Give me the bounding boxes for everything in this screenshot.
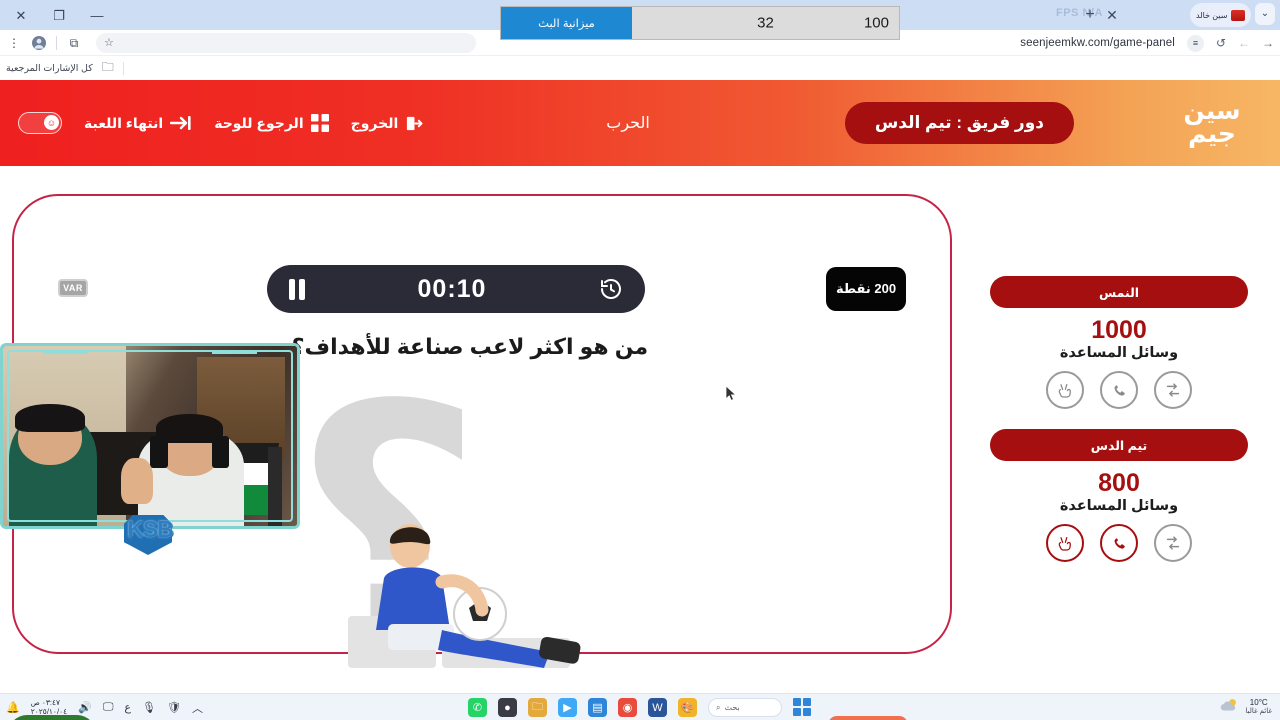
address-bar[interactable]: ☆ <box>96 33 476 53</box>
bookmarks-bar: 🗀 كل الإشارات المرجعية <box>0 56 1280 80</box>
timer-value: 00:10 <box>418 275 487 304</box>
header-actions: الخروج الرجوع للوحة انتهاء اللعبة ☺ <box>18 112 424 134</box>
folder-app-icon[interactable]: 🗀 <box>528 698 547 717</box>
toggle-knob-icon: ☺ <box>44 115 59 130</box>
bookmarks-folder-icon: 🗀 <box>100 60 116 76</box>
team-helps <box>990 524 1248 562</box>
end-game-arrow-icon <box>170 114 192 132</box>
webcam-headphone-right <box>212 436 230 468</box>
team-score: 1000 <box>990 316 1248 345</box>
broadcast-budget-max: 100 <box>864 15 889 32</box>
category-label: الحرب <box>606 113 650 133</box>
profile-avatar-icon <box>1231 10 1245 21</box>
url-options-icon[interactable]: ≡ <box>1187 35 1204 52</box>
teams-sidebar: النمس 1000 وسائل المساعدة <box>990 276 1248 582</box>
webcam-microphone <box>268 447 283 526</box>
webcam-person-left-hair <box>15 404 86 433</box>
boy-with-ball-illustration <box>292 518 622 678</box>
victory-hand-icon[interactable] <box>1046 371 1084 409</box>
toolbar-divider <box>56 36 57 50</box>
chrome-app-icon[interactable]: ◉ <box>618 698 637 717</box>
team-helps-label: وسائل المساعدة <box>990 498 1248 514</box>
current-turn-badge: دور فريق : تيم الدس <box>845 102 1074 144</box>
team-card: تيم الدس 800 وسائل المساعدة <box>990 429 1248 562</box>
forward-icon[interactable]: → <box>1262 36 1274 50</box>
pause-icon[interactable] <box>289 279 305 300</box>
chevron-down-icon[interactable]: ⌄ <box>1255 3 1275 25</box>
show-answer-button[interactable]: الإجابة <box>8 715 96 720</box>
var-badge[interactable]: VAR <box>58 279 88 297</box>
all-bookmarks-item[interactable]: 🗀 كل الإشارات المرجعية <box>6 56 124 80</box>
broadcast-budget-title: ميزانية البث <box>501 7 632 39</box>
mouse-cursor <box>726 386 737 402</box>
exit-button[interactable]: الخروج <box>351 114 425 133</box>
dark-mode-toggle[interactable]: ☺ <box>18 112 62 134</box>
two-answers-icon[interactable] <box>1154 371 1192 409</box>
team-helps <box>990 371 1248 409</box>
word-app-icon[interactable]: W <box>648 698 667 717</box>
profile-name: سين خالد <box>1196 11 1227 20</box>
team-card: النمس 1000 وسائل المساعدة <box>990 276 1248 409</box>
timer-bar: 00:10 <box>267 265 645 313</box>
restore-window-icon[interactable]: ❐ <box>48 4 70 26</box>
team-score: 800 <box>990 469 1248 498</box>
close-tab-icon[interactable]: ✕ <box>1102 5 1122 25</box>
team-helps-label: وسائل المساعدة <box>990 345 1248 361</box>
new-tab-button[interactable]: + <box>1080 5 1100 25</box>
store-app-icon[interactable]: ▤ <box>588 698 607 717</box>
bookmarks-divider <box>123 62 124 75</box>
seenjeem-logo[interactable]: سين جيم <box>1166 100 1258 146</box>
grid-board-icon <box>311 114 329 132</box>
team-name[interactable]: النمس <box>990 276 1248 308</box>
phone-call-icon[interactable] <box>1100 371 1138 409</box>
search-placeholder: بحث <box>724 703 739 712</box>
broadcast-budget-values: 32 100 <box>632 7 899 39</box>
bookmark-star-icon[interactable]: ☆ <box>104 36 114 49</box>
profile-chip[interactable]: سين خالد <box>1190 3 1251 27</box>
back-to-board-label: الرجوع للوحة <box>214 115 303 132</box>
split-screen-icon[interactable]: ⧉ <box>66 35 82 51</box>
all-bookmarks-label: كل الإشارات المرجعية <box>6 63 93 74</box>
browser-menu-icon[interactable]: ⋮ <box>6 35 22 51</box>
url-text[interactable]: seenjeemkw.com/game-panel <box>1020 37 1175 49</box>
taskbar-weather[interactable]: 10°C غائم غالبا <box>1219 694 1272 720</box>
taskbar-apps: ✆ ● 🗀 ▶ ▤ ◉ W 🎨 بحث ⌕ <box>0 694 1280 720</box>
two-answers-icon[interactable] <box>1154 524 1192 562</box>
game-page: سين جيم دور فريق : تيم الدس الحرب الخروج… <box>0 80 1280 693</box>
end-game-label: انتهاء اللعبة <box>84 115 163 132</box>
toolbar-right-group: → ← ↺ ≡ seenjeemkw.com/game-panel <box>1020 30 1274 56</box>
screen: ✕ ❐ — FPS N/A + ✕ سين خالد ⌄ ⋮ ⧉ ☆ → ← ↺ <box>0 0 1280 720</box>
broadcast-budget-overlay: ميزانية البث 32 100 <box>500 6 900 40</box>
webcam-overlay <box>0 343 300 529</box>
reload-icon[interactable]: ↺ <box>1216 36 1226 50</box>
taskbar-search[interactable]: بحث ⌕ <box>708 698 782 717</box>
team-name[interactable]: تيم الدس <box>990 429 1248 461</box>
windows-taskbar: 🔔 ٠٣:٤٧ ص ٢٠٢٥/١٠/٠٤ 🔊 🖵 ع 🎙 🛡 ︿ ✆ ● 🗀 ▶… <box>0 693 1280 720</box>
game-stage: VAR 00:10 200 نقطة من هو اكثر لاعب صناعة… <box>0 166 1280 693</box>
weather-widget: 10°C غائم غالبا <box>1245 699 1272 715</box>
obs-app-icon[interactable]: ● <box>498 698 517 717</box>
weather-cloud-icon <box>1219 698 1239 717</box>
search-icon: ⌕ <box>716 703 720 713</box>
close-window-icon[interactable]: ✕ <box>10 4 32 26</box>
phone-call-icon[interactable] <box>1100 524 1138 562</box>
back-icon[interactable]: ← <box>1238 36 1250 50</box>
broadcast-budget-current: 32 <box>632 15 899 32</box>
weather-temperature: 10°C <box>1250 699 1268 708</box>
minimize-window-icon[interactable]: — <box>86 4 108 26</box>
back-to-board-button[interactable]: الرجوع للوحة <box>214 114 328 132</box>
exit-label: الخروج <box>351 115 399 132</box>
webcam-headphone-left <box>150 436 168 468</box>
logo-line-2: جيم <box>1188 123 1236 146</box>
whatsapp-app-icon[interactable]: ✆ <box>468 698 487 717</box>
victory-hand-icon[interactable] <box>1046 524 1084 562</box>
end-game-button[interactable]: انتهاء اللعبة <box>84 114 192 132</box>
window-controls: ✕ ❐ — <box>0 0 108 30</box>
weather-description: غائم غالبا <box>1245 708 1272 716</box>
points-badge: 200 نقطة <box>826 267 906 311</box>
reset-timer-icon[interactable] <box>599 277 623 301</box>
exit-door-icon <box>405 114 424 133</box>
media-app-icon[interactable]: ▶ <box>558 698 577 717</box>
avatar[interactable] <box>31 35 47 51</box>
toolbar-left-group: ⋮ ⧉ <box>6 30 82 56</box>
game-header: سين جيم دور فريق : تيم الدس الحرب الخروج… <box>0 80 1280 166</box>
paint-app-icon[interactable]: 🎨 <box>678 698 697 717</box>
start-button-icon[interactable] <box>793 698 812 717</box>
webcam-raised-hand <box>121 458 153 505</box>
competition-badge: UCL 24/25 <box>828 716 908 720</box>
